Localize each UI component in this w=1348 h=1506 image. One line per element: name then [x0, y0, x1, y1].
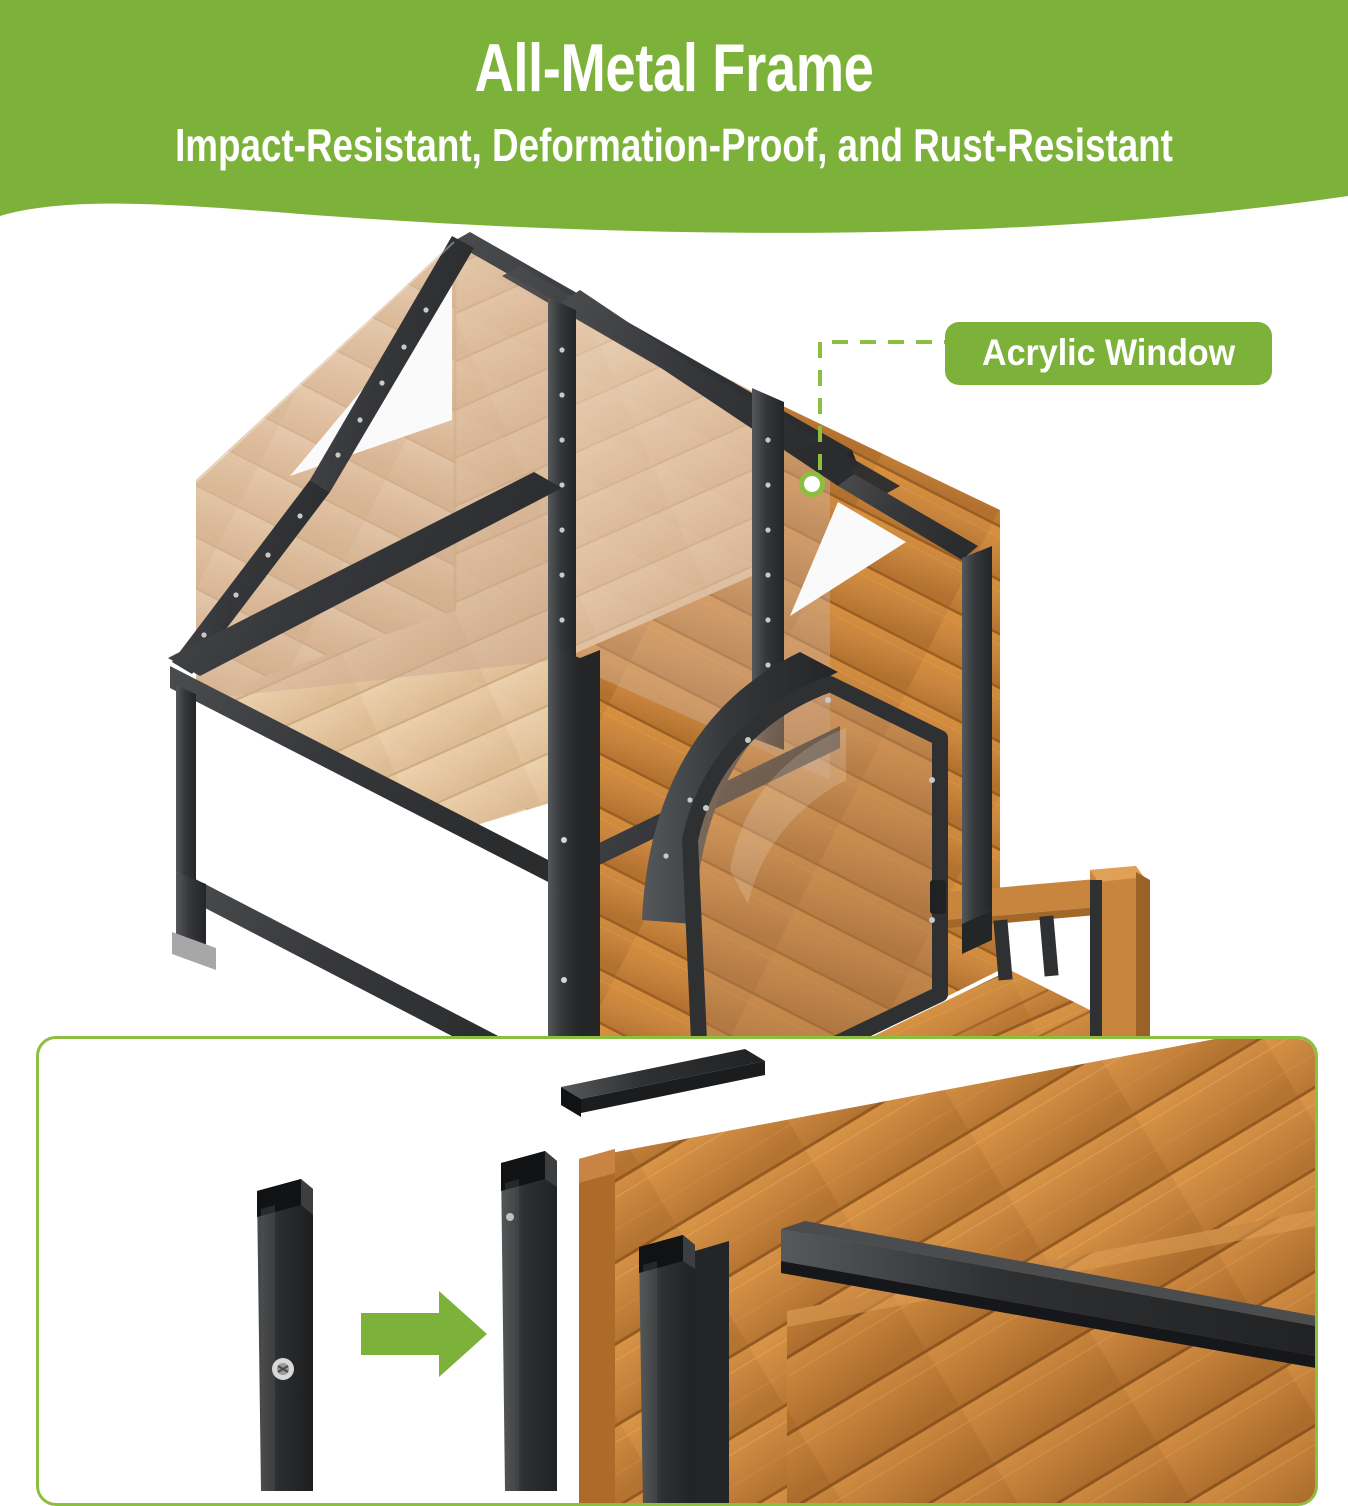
- installed-bracket-highlight: [643, 1261, 657, 1506]
- center-post-lower-side: [580, 650, 600, 1060]
- page-subtitle: Impact-Resistant, Deformation-Proof, and…: [135, 122, 1213, 168]
- acrylic-window-marker: [799, 471, 825, 497]
- transition-arrow-icon: [361, 1291, 487, 1377]
- dog-house-illustration: [0, 180, 1348, 1060]
- frame-detail-panel: [36, 1036, 1318, 1506]
- page-title: All-Metal Frame: [135, 34, 1213, 102]
- railing-baluster: [1039, 916, 1058, 977]
- product-infographic: Acrylic Window All-Metal Frame Impact-Re…: [0, 0, 1348, 1500]
- railing-post-side: [1136, 872, 1150, 1060]
- banner-text-block: All-Metal Frame Impact-Resistant, Deform…: [0, 0, 1348, 168]
- corner-post-right: [962, 546, 992, 924]
- corner-post-left: [176, 686, 196, 880]
- callout-label: Acrylic Window: [982, 334, 1235, 371]
- railing-post-bracket: [1090, 880, 1102, 1060]
- installed-post-highlight: [505, 1179, 519, 1491]
- corner-post-left-foot: [176, 872, 206, 946]
- post-installation-illustration: [39, 1039, 1318, 1506]
- installed-bracket-side: [695, 1241, 729, 1506]
- center-post-lower: [548, 646, 580, 1060]
- door-hinge: [930, 880, 946, 914]
- post-screw: [561, 977, 567, 983]
- hero-product-image: [0, 180, 1348, 1060]
- post-screw: [506, 1213, 514, 1221]
- loose-post-highlight: [261, 1205, 275, 1491]
- leader-dashed-path: [820, 342, 960, 480]
- header-banner: All-Metal Frame Impact-Resistant, Deform…: [0, 0, 1348, 270]
- bottom-rail-left: [178, 870, 560, 1060]
- callout-badge: Acrylic Window: [945, 322, 1272, 385]
- post-screw: [561, 837, 567, 843]
- callout-acrylic-window: Acrylic Window: [945, 322, 1272, 385]
- wood-panel-end-grain: [579, 1149, 615, 1506]
